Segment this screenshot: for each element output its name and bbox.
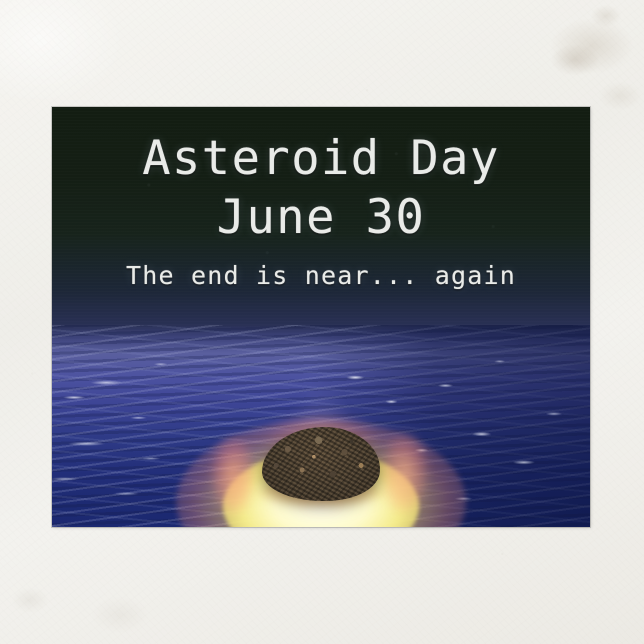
wave-foam-left (52, 342, 299, 527)
caption-block: Asteroid Day June 30 The end is near... … (52, 135, 590, 289)
tagline: The end is near... again (52, 263, 590, 289)
wave-foam-right (289, 325, 590, 527)
postcard: Asteroid Day June 30 The end is near... … (0, 0, 644, 644)
postcard-photo: Asteroid Day June 30 The end is near... … (52, 107, 590, 527)
title-line-2: June 30 (52, 194, 590, 243)
title-line-1: Asteroid Day (52, 135, 590, 184)
